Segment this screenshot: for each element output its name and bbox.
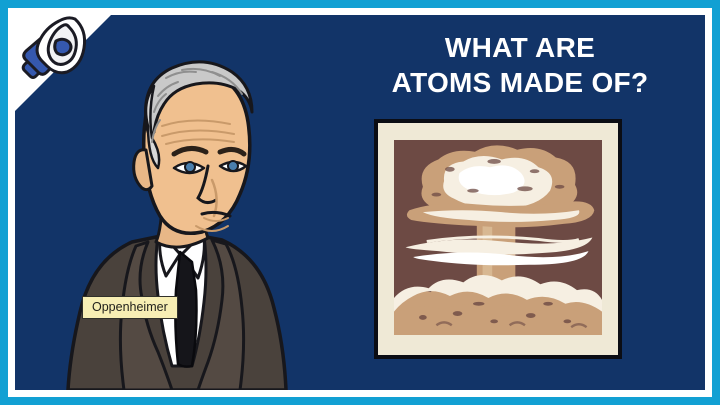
title-line-2: ATOMS MADE OF?: [360, 65, 680, 100]
framed-picture: [374, 119, 622, 359]
page-title: WHAT ARE ATOMS MADE OF?: [360, 30, 680, 100]
slide-canvas: WHAT ARE ATOMS MADE OF?: [0, 0, 720, 405]
title-line-1: WHAT ARE: [360, 30, 680, 65]
character-name-badge: Oppenheimer: [82, 296, 178, 319]
character-illustration-oppenheimer: [62, 46, 292, 390]
mushroom-cloud-illustration: [394, 140, 602, 335]
